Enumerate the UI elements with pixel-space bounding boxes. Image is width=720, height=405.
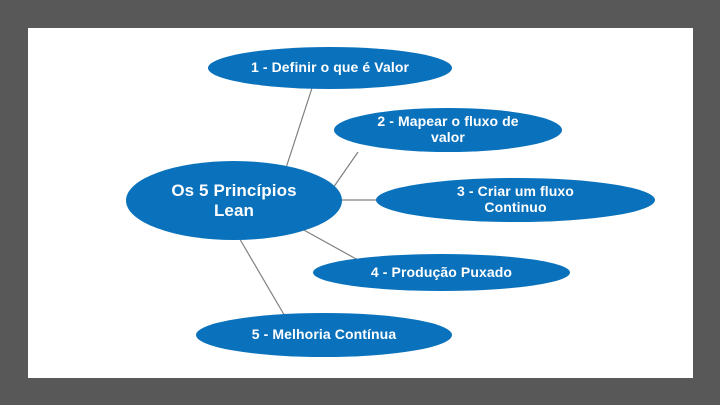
node-center-os-5-principios-lean[interactable]: Os 5 Princípios Lean <box>126 161 342 240</box>
node-3-label: 3 - Criar um fluxo Continuo <box>443 184 588 215</box>
connector-center-to-5 <box>238 236 286 318</box>
node-3-criar-um-fluxo-continuo[interactable]: 3 - Criar um fluxo Continuo <box>376 178 655 222</box>
slide-canvas: Os 5 Princípios Lean 1 - Definir o que é… <box>28 28 693 378</box>
node-center-label: Os 5 Princípios Lean <box>157 181 310 219</box>
node-5-label: 5 - Melhoria Contínua <box>238 327 410 343</box>
slide-frame: Os 5 Princípios Lean 1 - Definir o que é… <box>0 0 720 405</box>
node-2-label: 2 - Mapear o fluxo de valor <box>363 114 532 145</box>
node-2-mapear-o-fluxo-de-valor[interactable]: 2 - Mapear o fluxo de valor <box>334 108 562 152</box>
node-4-label: 4 - Produção Puxado <box>357 265 526 281</box>
node-5-melhoria-continua[interactable]: 5 - Melhoria Contínua <box>196 313 452 357</box>
connector-center-to-4 <box>302 229 358 260</box>
node-1-definir-o-que-e-valor[interactable]: 1 - Definir o que é Valor <box>208 47 452 89</box>
node-4-producao-puxado[interactable]: 4 - Produção Puxado <box>313 254 570 291</box>
node-1-label: 1 - Definir o que é Valor <box>237 60 423 76</box>
connector-center-to-1 <box>286 88 312 168</box>
